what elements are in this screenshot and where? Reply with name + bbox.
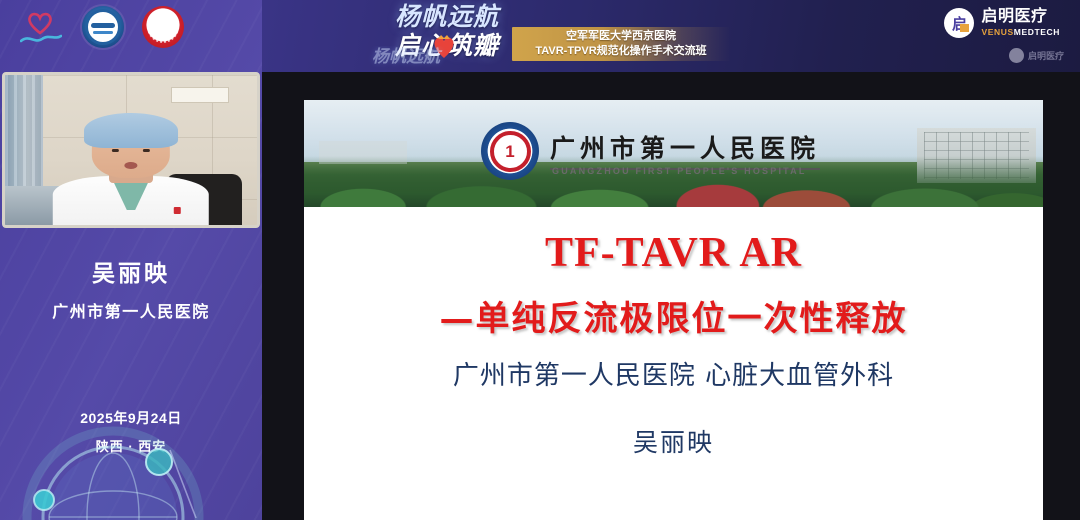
presentation-slide: 1 广州市第一人民医院 GUANGZHOU FIRST PEOPLE'S HOS… <box>304 100 1043 520</box>
sponsor-name-cn: 启明医疗 <box>981 9 1060 25</box>
slide-department: 广州市第一人民医院 心脏大血管外科 <box>304 355 1043 392</box>
slogan-line-2-text: 启心筑瓣 <box>395 31 499 60</box>
speaker-sidebar: 吴丽映 广州市第一人民医院 2025年9月24日 陕西 · 西安 <box>0 58 262 520</box>
slide-hospital-name-cn: 广州市第一人民医院 <box>550 129 820 170</box>
sponsor-name-en-rest: MEDTECH <box>1014 27 1060 37</box>
slogan-line-1: 杨帆远航 <box>372 2 522 31</box>
screen-share-region[interactable]: 1 广州市第一人民医院 GUANGZHOU FIRST PEOPLE'S HOS… <box>262 72 1080 520</box>
sponsor-logo: 启 启明医疗 VENUSMEDTECH <box>944 8 1060 38</box>
globe-decoration-icon <box>18 422 208 520</box>
surgical-cap-icon <box>84 113 178 148</box>
blue-circle-logo <box>82 6 124 48</box>
speaker-video-feed <box>5 75 257 225</box>
slide-hospital-name-en: GUANGZHOU FIRST PEOPLE'S HOSPITAL <box>552 166 807 176</box>
red-seal-label: SFS <box>147 11 179 43</box>
sponsor-name-en: VENUSMEDTECH <box>981 28 1060 37</box>
slide-subtitle: —单纯反流极限位一次性释放 <box>304 291 1043 340</box>
venus-monogram-icon: 启 <box>944 8 974 38</box>
banner-line-2: TAVR-TPVR规范化操作手术交流班 <box>535 44 706 59</box>
hospital-emblem-icon: 1 <box>481 122 539 180</box>
slogan-line-2: 启心筑瓣 <box>372 31 522 60</box>
sponsor-name-en-accent: VENUS <box>981 27 1013 37</box>
speaker-video-tile[interactable] <box>2 72 260 228</box>
speaker-figure <box>53 108 209 225</box>
hospital-emblem-char: 1 <box>490 131 531 172</box>
heart-wave-logo <box>18 7 64 47</box>
red-seal-logo: SFS <box>142 6 184 48</box>
broadcast-stage: SFS 杨帆远航 启心筑瓣 空军军医大学西京医院 TAVR-TPVR规范化操作手… <box>0 0 1080 520</box>
partner-logos: SFS <box>18 4 218 50</box>
slide-body: TF-TAVR AR —单纯反流极限位一次性释放 广州市第一人民医院 心脏大血管… <box>304 207 1043 520</box>
event-subtitle-banner: 空军军医大学西京医院 TAVR-TPVR规范化操作手术交流班 <box>512 27 730 61</box>
speaker-name: 吴丽映 <box>0 254 262 288</box>
event-slogan: 杨帆远航 启心筑瓣 <box>372 2 522 64</box>
banner-line-1: 空军军医大学西京医院 <box>566 29 676 44</box>
wave-icon <box>20 33 62 45</box>
slide-author: 吴丽映 <box>304 423 1043 459</box>
speaker-organization: 广州市第一人民医院 <box>0 298 262 322</box>
heart-icon <box>27 11 53 35</box>
slide-title: TF-TAVR AR <box>304 229 1043 277</box>
